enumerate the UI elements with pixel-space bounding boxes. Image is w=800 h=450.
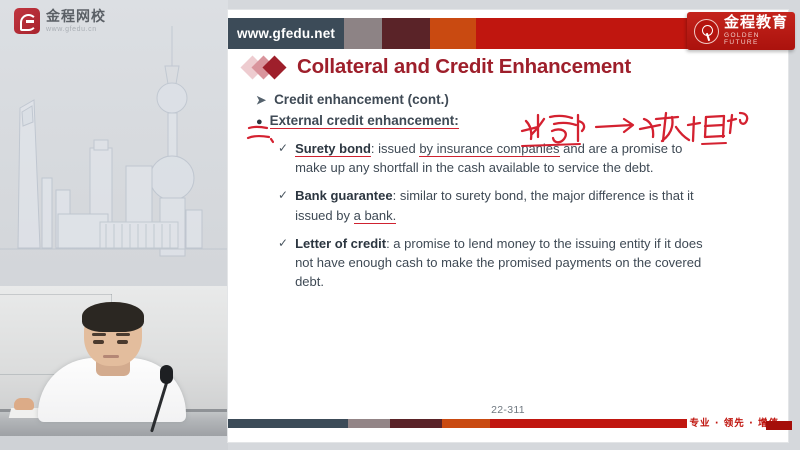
instructor-eye-left [93, 340, 104, 344]
footer-color-block-maroon [390, 419, 442, 428]
instructor-hand [14, 398, 34, 410]
footer-color-block-orange [442, 419, 490, 428]
footer-end-cap [766, 421, 792, 430]
list-item: ✓ Letter of credit: a promise to lend mo… [278, 234, 708, 292]
item-term: Bank guarantee [295, 188, 393, 203]
footer-color-block-slate [228, 419, 348, 428]
shanghai-skyline-watermark [0, 18, 228, 286]
instructor-eye-right [117, 340, 128, 344]
bullet-level1-external-credit-enhancement: ● External credit enhancement: [248, 113, 772, 129]
brand-url: www.gfedu.cn [46, 26, 106, 33]
header-color-block-maroon [382, 18, 430, 49]
check-icon: ✓ [278, 186, 288, 205]
badge-name-cn: 金程教育 [724, 15, 795, 31]
slide-header-url: www.gfedu.net [228, 18, 344, 49]
wall-line [0, 294, 112, 295]
gfedu-education-badge: 金程教育 GOLDEN FUTURE [687, 12, 795, 50]
presentation-slide: www.gfedu.net 金程教育 GOLDEN FUTURE Collate… [228, 10, 788, 442]
diamond-decoration-icon [244, 55, 288, 79]
item-body-underlined: a bank. [354, 208, 397, 224]
gfedu-flag-icon [14, 8, 40, 34]
instructor-eyebrow-left [92, 333, 106, 336]
brand-name-cn: 金程网校 [46, 10, 106, 24]
check-icon: ✓ [278, 234, 288, 253]
slide-body: ➤ Credit enhancement (cont.) ● External … [248, 92, 772, 301]
bullet-level1b-text: External credit enhancement: [270, 113, 459, 129]
slide-title-row: Collateral and Credit Enhancement [244, 55, 631, 79]
header-color-block-gray [344, 18, 382, 49]
bullet-level1-credit-enhancement: ➤ Credit enhancement (cont.) [248, 92, 772, 107]
header-color-block-orange [430, 18, 476, 49]
item-body-before: : issued [371, 141, 419, 156]
bullet-level1-text: Credit enhancement (cont.) [274, 92, 449, 107]
list-item: ✓ Bank guarantee: similar to surety bond… [278, 186, 708, 224]
instructor-camera-feed[interactable] [0, 286, 228, 436]
video-panel: 金程网校 www.gfedu.cn [0, 0, 228, 450]
microphone-icon [160, 365, 173, 384]
check-icon: ✓ [278, 139, 288, 158]
instructor-hair [82, 302, 144, 332]
item-body-underlined: by insurance companies [419, 141, 559, 157]
dot-bullet-icon: ● [256, 116, 263, 128]
list-item: ✓ Surety bond: issued by insurance compa… [278, 139, 708, 177]
footer-color-block-gray [348, 419, 390, 428]
gfedu-online-school-logo: 金程网校 www.gfedu.cn [14, 8, 106, 34]
page-title: Collateral and Credit Enhancement [297, 55, 631, 79]
item-term: Letter of credit [295, 236, 386, 251]
instructor-eyebrow-right [116, 333, 130, 336]
gfedu-seal-icon [694, 19, 719, 44]
item-term: Surety bond [295, 141, 371, 157]
instructor-mouth [103, 355, 119, 358]
arrow-bullet-icon: ➤ [256, 93, 266, 107]
badge-name-en: GOLDEN FUTURE [724, 33, 795, 47]
